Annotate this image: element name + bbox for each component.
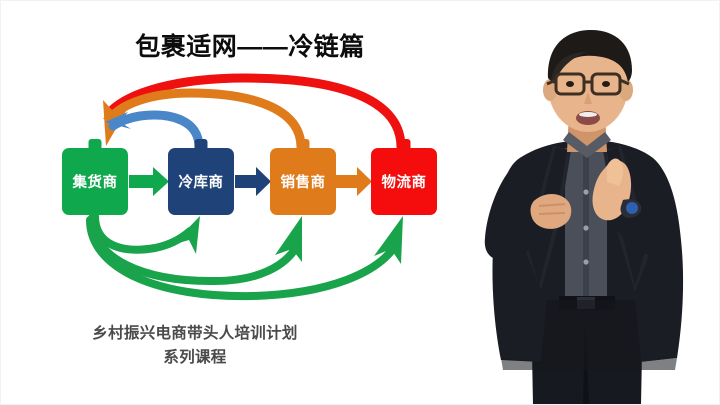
node-cold-storage-label: 冷库商	[179, 171, 224, 192]
node-seller[interactable]: 销售商	[270, 148, 336, 215]
node-collector[interactable]: 集货商	[62, 148, 128, 215]
caption-line-2: 系列课程	[45, 346, 345, 370]
course-caption: 乡村振兴电商带头人培训计划 系列课程	[45, 322, 345, 370]
node-stub	[195, 139, 208, 151]
node-collector-label: 集货商	[73, 171, 118, 192]
supply-arrow-collector-to-logistics	[90, 216, 403, 296]
node-stub	[89, 139, 102, 151]
forward-arrow-coldstore-to-seller	[235, 167, 271, 196]
forward-arrow-collector-to-coldstore	[129, 167, 169, 196]
node-seller-label: 销售商	[281, 171, 326, 192]
presenter-video	[455, 0, 720, 405]
return-arrow-coldstore-to-collector	[105, 112, 199, 147]
node-stub	[398, 139, 411, 151]
caption-line-1: 乡村振兴电商带头人培训计划	[92, 325, 297, 342]
presenter-figure	[455, 0, 720, 405]
slide-canvas: 包裹适网——冷链篇	[0, 0, 720, 405]
node-logistics[interactable]: 物流商	[371, 148, 437, 215]
forward-arrow-seller-to-logistics	[336, 167, 372, 196]
supply-arrow-collector-to-coldstore	[95, 216, 200, 254]
node-stub	[297, 139, 310, 151]
node-logistics-label: 物流商	[382, 171, 427, 192]
node-cold-storage[interactable]: 冷库商	[168, 148, 234, 215]
